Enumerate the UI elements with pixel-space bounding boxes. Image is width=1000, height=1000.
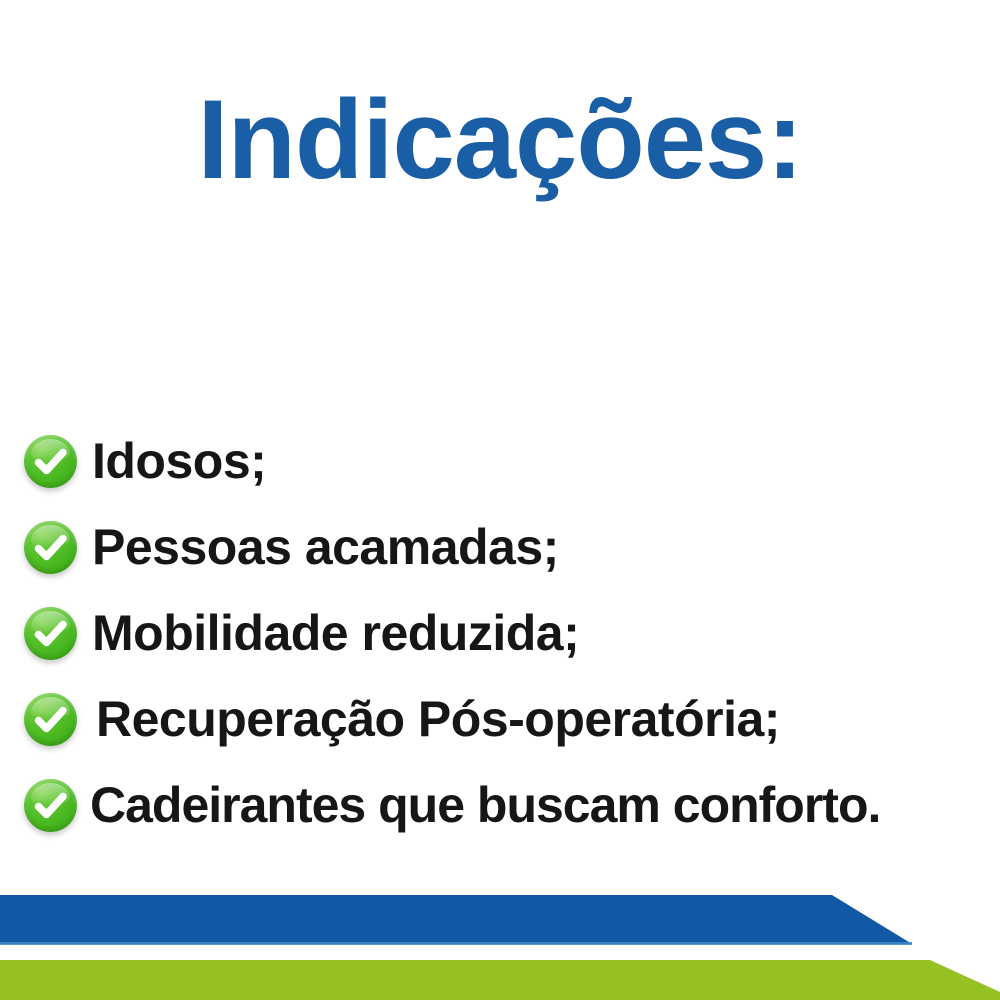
indications-list: Idosos; Pessoas acamadas; Mobilidade red…: [0, 418, 1000, 848]
slide-canvas: Indicações: Idosos; Pessoas acamadas;: [0, 0, 1000, 1000]
list-item: Mobilidade reduzida;: [0, 590, 1000, 676]
green-check-circle-icon: [24, 607, 77, 660]
list-item-label: Pessoas acamadas;: [92, 522, 559, 572]
list-item: Idosos;: [0, 418, 1000, 504]
blue-angled-bar-edge: [0, 942, 912, 945]
list-item: Pessoas acamadas;: [0, 504, 1000, 590]
list-item-label: Idosos;: [92, 436, 266, 486]
page-title: Indicações:: [0, 78, 1000, 201]
list-item-label: Cadeirantes que buscam conforto.: [90, 780, 880, 830]
green-check-circle-icon: [24, 521, 77, 574]
list-item-label: Recuperação Pós-operatória;: [96, 694, 780, 744]
green-check-circle-icon: [24, 779, 77, 832]
list-item-label: Mobilidade reduzida;: [92, 608, 579, 658]
green-angled-bar: [0, 960, 1000, 1000]
blue-angled-bar: [0, 895, 912, 944]
green-check-circle-icon: [24, 435, 77, 488]
green-check-circle-icon: [24, 693, 77, 746]
list-item: Cadeirantes que buscam conforto.: [0, 762, 1000, 848]
footer-decoration: [0, 880, 1000, 1000]
list-item: Recuperação Pós-operatória;: [0, 676, 1000, 762]
